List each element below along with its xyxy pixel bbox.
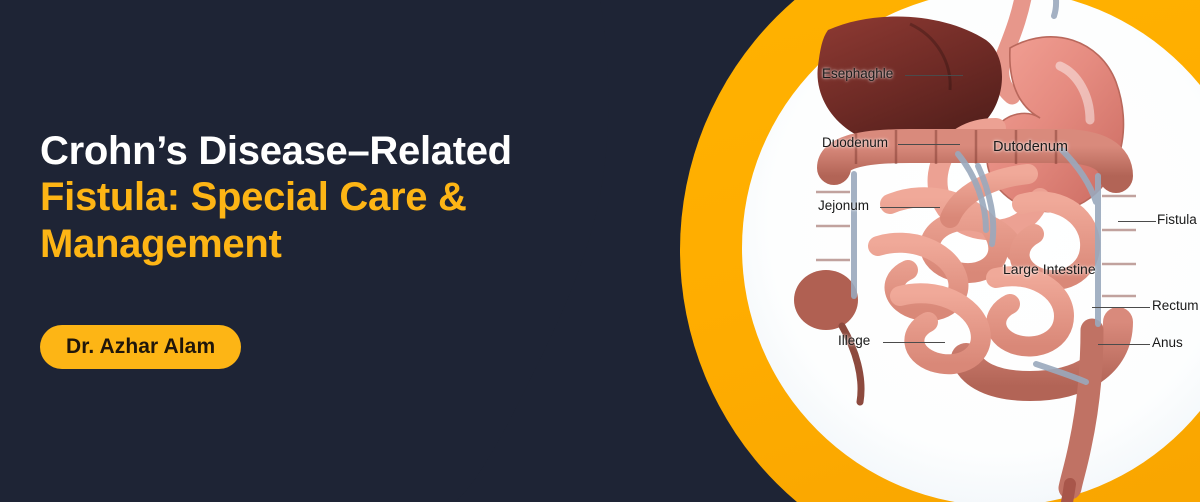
author-badge[interactable]: Dr. Azhar Alam [40,325,241,369]
label-rectum: Rectum [1152,298,1199,313]
label-esophagus: Esephaghle [822,66,893,81]
label-anus: Anus [1152,335,1183,350]
leader-line-jejunum [880,207,940,208]
label-jejunum: Jejonum [818,198,869,213]
headline-block: Crohn’s Disease–Related Fistula: Special… [40,128,600,267]
leader-line-rectum [1092,307,1150,308]
page-title-line-1: Crohn’s Disease–Related [40,128,600,174]
leader-line-fistula [1118,221,1156,222]
leader-line-anus [1098,344,1150,345]
label-ileum: Illege [838,333,870,348]
banner-root: Esephaghle Duodenum Dutodenum Jejonum Fi… [0,0,1200,502]
label-duodenum-right: Dutodenum [993,139,1068,155]
leader-line-ileum [883,342,945,343]
label-fistula: Fistula [1157,212,1197,227]
label-large-intestine: Large Intestine [1003,261,1096,277]
page-title-line-2: Fistula: Special Care & [40,174,600,220]
page-title-line-3: Management [40,221,600,267]
leader-line-duodenum-left [898,144,960,145]
leader-line-esophagus [905,75,963,76]
label-duodenum-left: Duodenum [822,135,888,150]
